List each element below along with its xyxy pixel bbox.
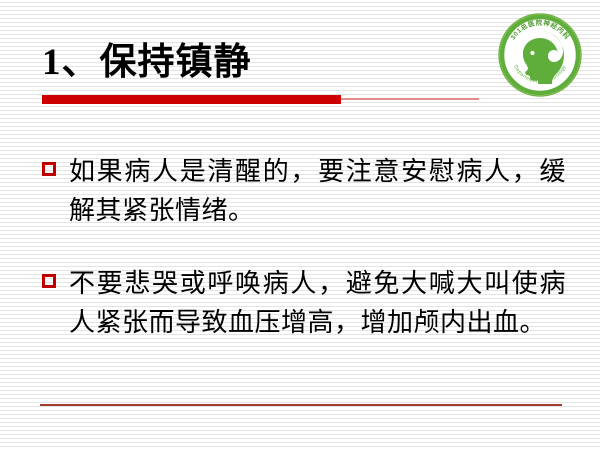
square-bullet-icon (42, 162, 56, 176)
slide-title-block: 1、保持镇静 (42, 40, 502, 86)
square-bullet-icon (42, 274, 56, 288)
page-title: 1、保持镇静 (42, 40, 502, 86)
list-item-text: 不要悲哭或呼唤病人，避免大喊大叫使病人紧张而导致血压增高，增加颅内出血。 (69, 264, 566, 342)
list-item: 不要悲哭或呼唤病人，避免大喊大叫使病人紧张而导致血压增高，增加颅内出血。 (42, 264, 566, 342)
footer-divider (40, 404, 562, 406)
hospital-neurology-logo: 301总医院神经内科 Department of Neurology (497, 12, 583, 98)
title-underline (42, 94, 482, 105)
slide: 301总医院神经内科 Department of Neurology 1、保持镇… (0, 0, 600, 450)
bullet-list: 如果病人是清醒的，要注意安慰病人，缓解其紧张情绪。 不要悲哭或呼唤病人，避免大喊… (42, 152, 566, 376)
title-underline-thin (341, 98, 479, 100)
title-underline-thick (42, 95, 341, 104)
list-item-text: 如果病人是清醒的，要注意安慰病人，缓解其紧张情绪。 (69, 152, 566, 230)
list-item: 如果病人是清醒的，要注意安慰病人，缓解其紧张情绪。 (42, 152, 566, 230)
